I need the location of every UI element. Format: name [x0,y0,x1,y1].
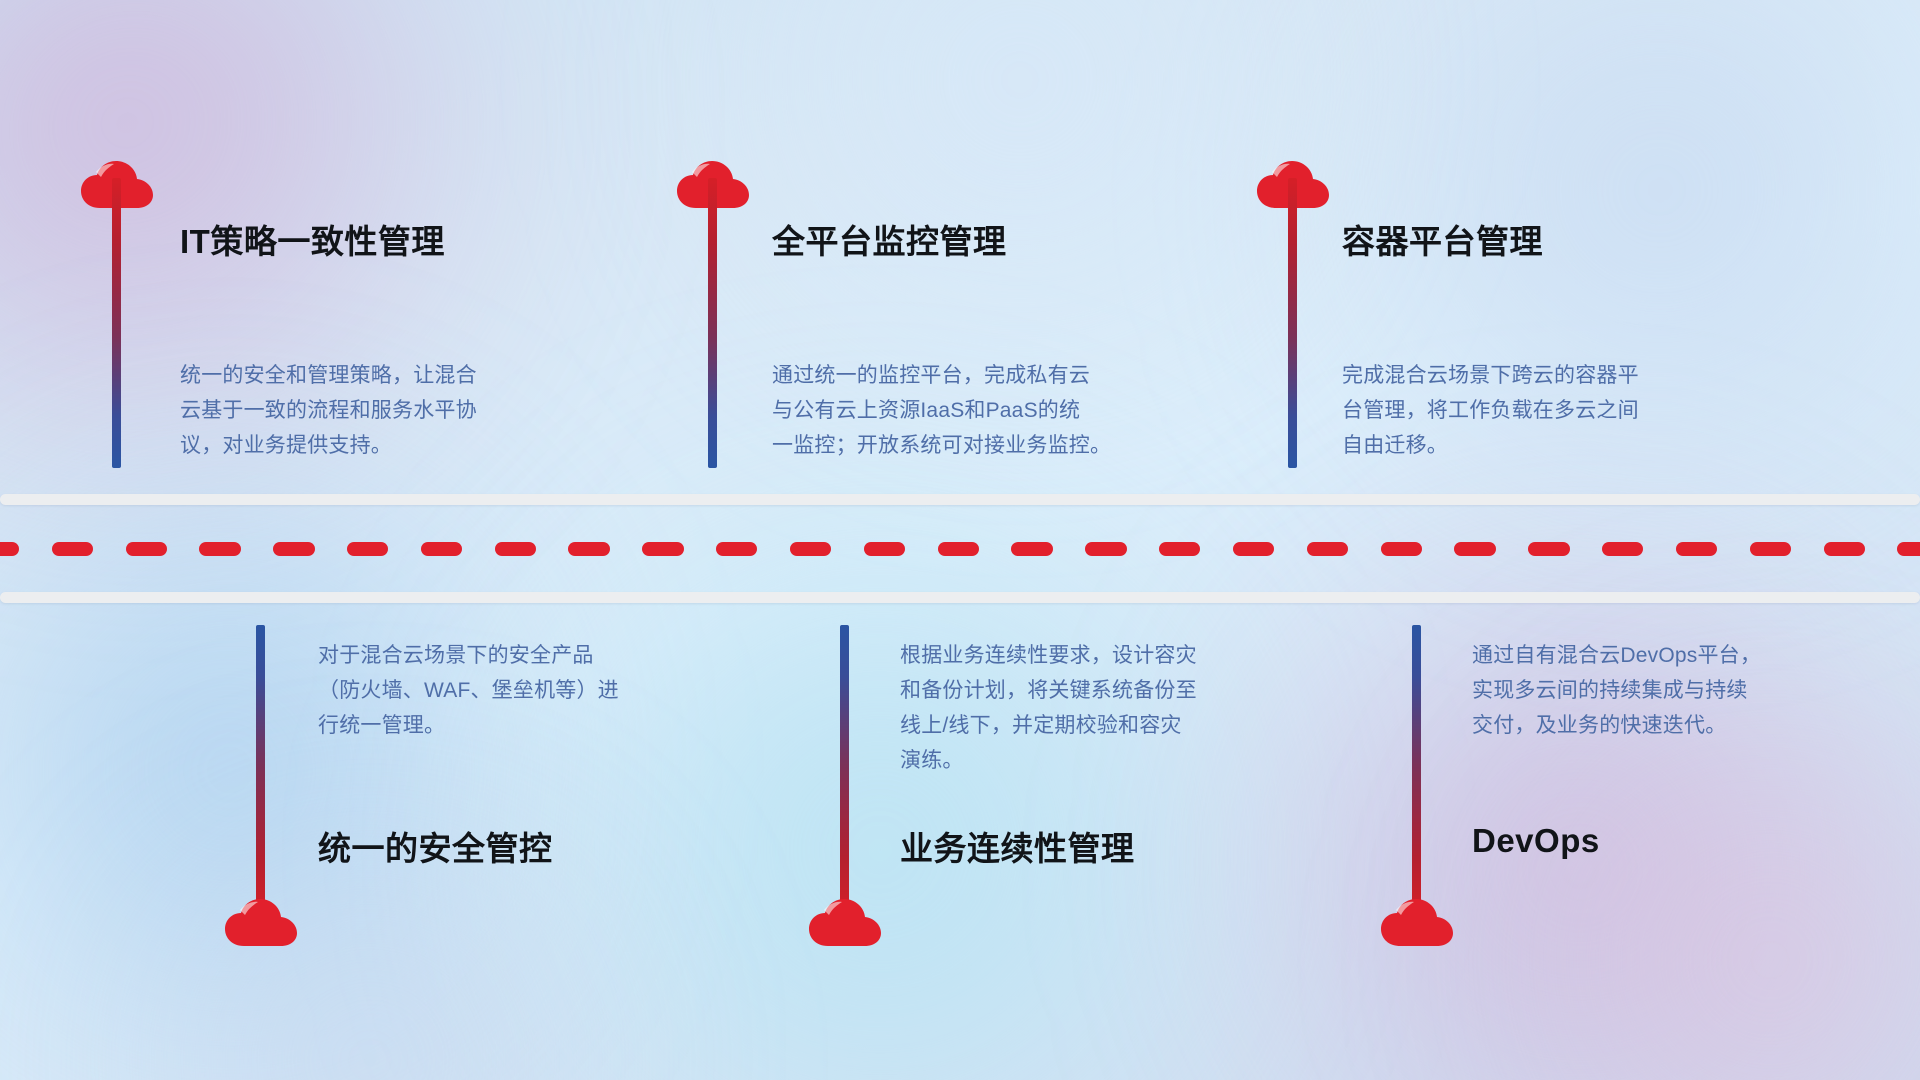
bottom-heading-3: DevOps [1472,822,1600,860]
body-line: 交付，及业务的快速迭代。 [1472,708,1761,743]
body-line: 行统一管理。 [318,708,619,743]
body-line: 线上/线下，并定期校验和容灾 [900,708,1197,743]
bottom-column-3: 通过自有混合云DevOps平台， 实现多云间的持续集成与持续 交付，及业务的快速… [1280,0,1920,1080]
body-line: 对于混合云场景下的安全产品 [318,638,619,673]
body-line: 演练。 [900,743,1197,778]
body-line: （防火墙、WAF、堡垒机等）进 [318,673,619,708]
bottom-heading-1: 统一的安全管控 [318,822,553,870]
infographic-canvas: IT策略一致性管理 统一的安全和管理策略，让混合 云基于一致的流程和服务水平协 … [0,0,1920,1080]
bottom-body-3: 通过自有混合云DevOps平台， 实现多云间的持续集成与持续 交付，及业务的快速… [1472,638,1761,743]
bottom-column-2: 根据业务连续性要求，设计容灾 和备份计划，将关键系统备份至 线上/线下，并定期校… [640,0,1280,1080]
connector-stem [256,625,265,917]
body-line: 和备份计划，将关键系统备份至 [900,673,1197,708]
bottom-heading-2: 业务连续性管理 [900,822,1135,870]
bottom-body-1: 对于混合云场景下的安全产品 （防火墙、WAF、堡垒机等）进 行统一管理。 [318,638,619,743]
cloud-icon [808,898,882,948]
connector-stem [1412,625,1421,917]
cloud-icon [1380,898,1454,948]
connector-stem [840,625,849,917]
body-line: 根据业务连续性要求，设计容灾 [900,638,1197,673]
cloud-icon [224,898,298,948]
body-line: 实现多云间的持续集成与持续 [1472,673,1761,708]
bottom-column-1: 对于混合云场景下的安全产品 （防火墙、WAF、堡垒机等）进 行统一管理。 统一的… [0,0,640,1080]
body-line: 通过自有混合云DevOps平台， [1472,638,1761,673]
bottom-body-2: 根据业务连续性要求，设计容灾 和备份计划，将关键系统备份至 线上/线下，并定期校… [900,638,1197,778]
